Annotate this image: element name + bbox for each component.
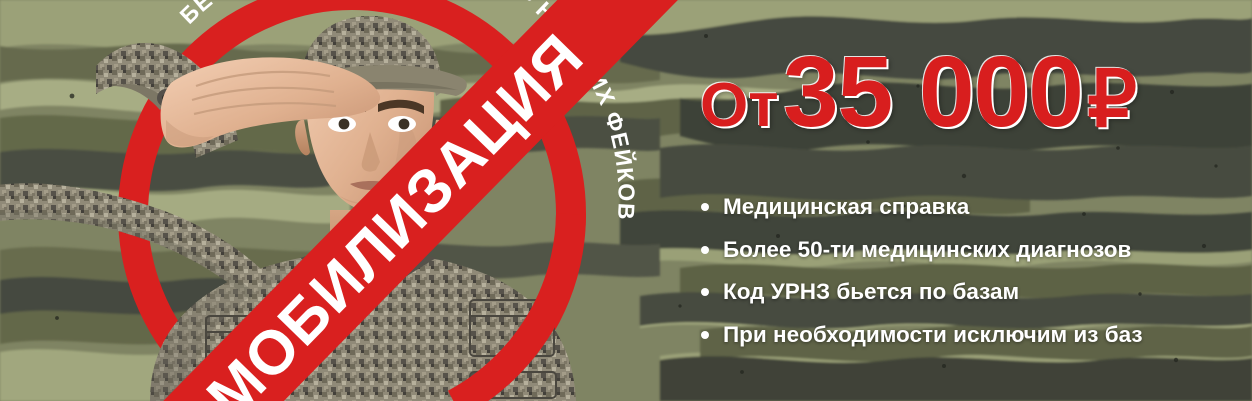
feature-label: Более 50-ти медицинских диагнозов — [723, 237, 1131, 262]
list-item: Медицинская справка — [697, 196, 1242, 219]
offer-content: От 35 000 ₽ Медицинская справка Более 50… — [697, 0, 1242, 401]
ruble-sign-icon: ₽ — [1087, 55, 1137, 143]
list-item: Код УРНЗ бьется по базам — [697, 281, 1242, 304]
features-list: Медицинская справка Более 50-ти медицинс… — [697, 196, 1242, 366]
feature-label: Медицинская справка — [723, 194, 969, 219]
price-from-label: От — [700, 71, 779, 140]
price-headline: От 35 000 ₽ — [700, 42, 1137, 142]
list-item: При необходимости исключим из баз — [697, 324, 1242, 347]
list-item: Более 50-ти медицинских диагнозов — [697, 239, 1242, 262]
bullet-dot-icon — [701, 288, 709, 296]
promo-banner: БЕЗ ПОСЕЩЕНИЙ • БЫСТРО • НИКАКИХ ФЕЙКОВ — [0, 0, 1252, 401]
bullet-dot-icon — [701, 246, 709, 254]
bullet-dot-icon — [701, 331, 709, 339]
feature-label: При необходимости исключим из баз — [723, 322, 1143, 347]
bullet-dot-icon — [701, 203, 709, 211]
price-amount: 35 000 — [783, 36, 1083, 148]
soldier-photo — [0, 0, 660, 401]
feature-label: Код УРНЗ бьется по базам — [723, 279, 1019, 304]
